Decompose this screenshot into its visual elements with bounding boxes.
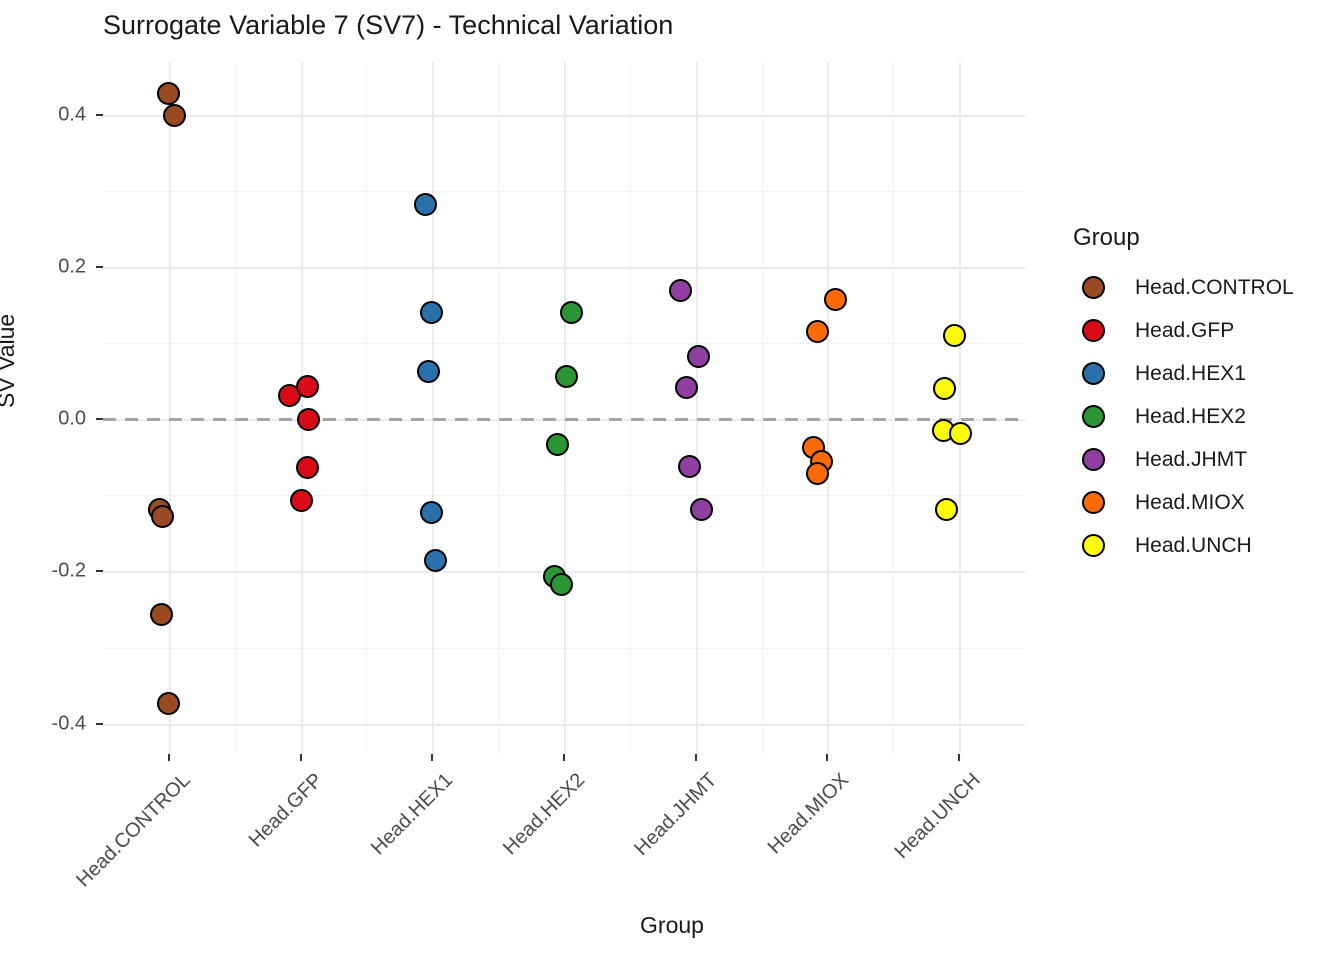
- data-point: [420, 501, 443, 524]
- gridline-major-vertical: [959, 62, 961, 754]
- gridline-minor-vertical: [235, 62, 236, 754]
- legend-item-label: Head.HEX2: [1135, 405, 1246, 429]
- data-point: [806, 462, 829, 485]
- y-axis-tick-label: 0.4: [58, 104, 86, 127]
- y-axis-tick-label: 0.2: [58, 256, 86, 279]
- x-axis-tick-label: Head.HEX2: [499, 769, 590, 860]
- legend-items: Head.CONTROLHead.GFPHead.HEX1Head.HEX2He…: [1073, 266, 1294, 567]
- data-point: [151, 505, 174, 528]
- x-axis-tick-label: Head.JHMT: [630, 769, 722, 861]
- data-point: [690, 498, 713, 521]
- legend-color-swatch-icon: [1082, 276, 1105, 299]
- data-point: [296, 375, 319, 398]
- y-axis-tick-mark: [96, 570, 103, 572]
- x-axis-tick-mark: [563, 754, 565, 761]
- data-point: [560, 301, 583, 324]
- legend-item-label: Head.JHMT: [1135, 448, 1247, 472]
- x-axis-tick-mark: [958, 754, 960, 761]
- data-point: [806, 320, 829, 343]
- legend-item-label: Head.HEX1: [1135, 362, 1246, 386]
- legend-item-head-gfp[interactable]: Head.GFP: [1073, 309, 1294, 352]
- legend-item-label: Head.CONTROL: [1135, 276, 1294, 300]
- legend-color-swatch-icon: [1082, 362, 1105, 385]
- data-point: [824, 288, 847, 311]
- data-point: [414, 193, 437, 216]
- legend-color-swatch-icon: [1082, 448, 1105, 471]
- plot-panel: [103, 62, 1025, 754]
- legend-title: Group: [1073, 224, 1294, 252]
- legend-item-head-unch[interactable]: Head.UNCH: [1073, 524, 1294, 567]
- data-point: [424, 549, 447, 572]
- y-axis-title: SV Value: [0, 314, 20, 408]
- gridline-minor-vertical: [630, 62, 631, 754]
- zero-reference-line: [103, 418, 1025, 421]
- y-axis-tick-mark: [96, 114, 103, 116]
- legend-color-swatch-icon: [1082, 534, 1105, 557]
- x-axis-title: Group: [0, 912, 1344, 939]
- gridline-minor-vertical: [893, 62, 894, 754]
- x-axis-tick-mark: [300, 754, 302, 761]
- data-point: [297, 408, 320, 431]
- data-point: [163, 104, 186, 127]
- legend-item-head-miox[interactable]: Head.MIOX: [1073, 481, 1294, 524]
- data-point: [157, 82, 180, 105]
- data-point: [296, 456, 319, 479]
- gridline-major-vertical: [432, 62, 434, 754]
- gridline-minor-vertical: [762, 62, 763, 754]
- data-point: [150, 603, 173, 626]
- chart-root: Surrogate Variable 7 (SV7) - Technical V…: [0, 0, 1344, 960]
- x-axis-tick-label: Head.MIOX: [764, 769, 854, 859]
- data-point: [949, 422, 972, 445]
- y-axis-tick-label: -0.4: [52, 712, 86, 735]
- x-axis-tick-label: Head.HEX1: [367, 769, 458, 860]
- data-point: [290, 489, 313, 512]
- data-point: [546, 433, 569, 456]
- gridline-major-vertical: [301, 62, 303, 754]
- legend-item-head-hex2[interactable]: Head.HEX2: [1073, 395, 1294, 438]
- gridline-major-vertical: [169, 62, 171, 754]
- data-point: [687, 345, 710, 368]
- x-axis-tick-mark: [695, 754, 697, 761]
- legend: Group Head.CONTROLHead.GFPHead.HEX1Head.…: [1073, 224, 1294, 567]
- x-axis-tick-label: Head.GFP: [244, 769, 327, 852]
- gridline-major-vertical: [564, 62, 566, 754]
- page-title: Surrogate Variable 7 (SV7) - Technical V…: [103, 8, 673, 42]
- data-point: [669, 279, 692, 302]
- data-point: [550, 573, 573, 596]
- legend-item-head-control[interactable]: Head.CONTROL: [1073, 266, 1294, 309]
- legend-item-label: Head.GFP: [1135, 319, 1234, 343]
- legend-item-label: Head.MIOX: [1135, 491, 1245, 515]
- x-axis-tick-label: Head.UNCH: [891, 769, 986, 864]
- data-point: [935, 498, 958, 521]
- legend-item-head-jhmt[interactable]: Head.JHMT: [1073, 438, 1294, 481]
- x-axis-tick-mark: [431, 754, 433, 761]
- gridline-minor-vertical: [498, 62, 499, 754]
- legend-color-swatch-icon: [1082, 405, 1105, 428]
- legend-color-swatch-icon: [1082, 491, 1105, 514]
- y-axis-tick-mark: [96, 266, 103, 268]
- legend-item-head-hex1[interactable]: Head.HEX1: [1073, 352, 1294, 395]
- y-axis-tick-label: -0.2: [52, 560, 86, 583]
- y-axis-tick-mark: [96, 723, 103, 725]
- y-axis-tick-mark: [96, 418, 103, 420]
- data-point: [420, 301, 443, 324]
- legend-color-swatch-icon: [1082, 319, 1105, 342]
- x-axis-tick-label: Head.CONTROL: [72, 769, 195, 892]
- gridline-major-vertical: [827, 62, 829, 754]
- x-axis-tick-mark: [168, 754, 170, 761]
- data-point: [417, 360, 440, 383]
- data-point: [943, 324, 966, 347]
- legend-item-label: Head.UNCH: [1135, 534, 1252, 558]
- y-axis-tick-label: 0.0: [58, 408, 86, 431]
- x-axis-tick-mark: [826, 754, 828, 761]
- data-point: [678, 455, 701, 478]
- gridline-major-vertical: [696, 62, 698, 754]
- data-point: [933, 377, 956, 400]
- data-point: [157, 692, 180, 715]
- data-point: [555, 365, 578, 388]
- gridline-minor-vertical: [366, 62, 367, 754]
